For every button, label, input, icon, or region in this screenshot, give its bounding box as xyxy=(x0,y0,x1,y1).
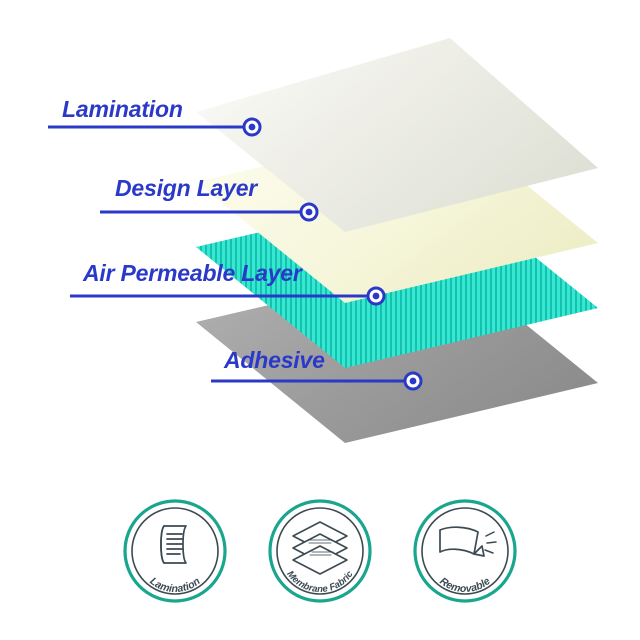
layer-label-lamination: Lamination xyxy=(62,96,183,123)
feature-badge-lamination: Lamination xyxy=(120,496,230,606)
layer-label-air-permeable-layer: Air Permeable Layer xyxy=(83,260,302,287)
feature-badge-row: Lamination Me xyxy=(0,488,640,628)
feature-badge-removable: Removable xyxy=(410,496,520,606)
layer-label-design-layer: Design Layer xyxy=(115,175,257,202)
layer-label-adhesive: Adhesive xyxy=(224,347,325,374)
exploded-layer-stack xyxy=(0,0,640,470)
curled-sheet-icon xyxy=(161,526,186,563)
feature-badge-membrane-fabric: Membrane Fabric xyxy=(265,496,375,606)
diagram-canvas: Lamination Design Layer Air Permeable La… xyxy=(0,0,640,640)
